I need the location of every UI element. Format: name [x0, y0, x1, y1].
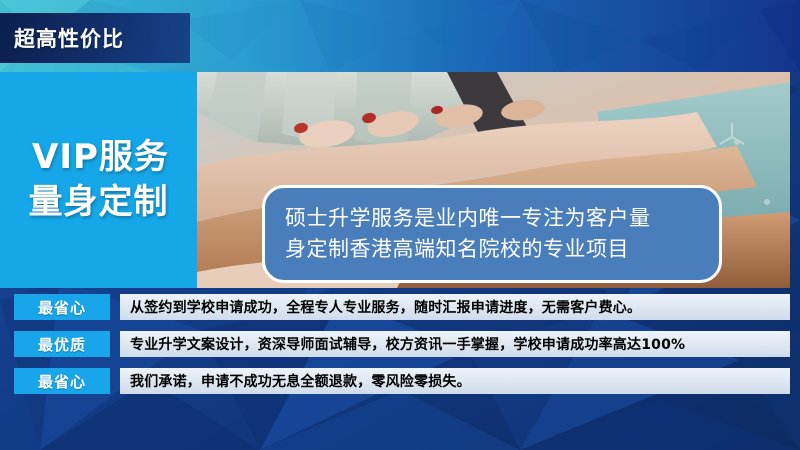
feature-badge: 最省心 — [14, 294, 110, 320]
header-tag-label: 超高性价比 — [0, 23, 124, 53]
feature-text-bar: 我们承诺，申请不成功无息全额退款，零风险零损失。 — [120, 368, 790, 394]
feature-badge: 最省心 — [14, 368, 110, 394]
slide-canvas: 超高性价比 — [0, 0, 800, 450]
service-description-callout: 硕士升学服务是业内唯一专注为客户量 身定制香港高端知名院校的专业项目 — [262, 185, 722, 283]
feature-row: 最优质 专业升学文案设计，资深导师面试辅导，校方资讯一手掌握，学校申请成功率高达… — [0, 331, 800, 357]
feature-row: 最省心 我们承诺，申请不成功无息全额退款，零风险零损失。 — [0, 368, 800, 394]
feature-badge-label: 最省心 — [38, 371, 86, 392]
feature-text: 我们承诺，申请不成功无息全额退款，零风险零损失。 — [120, 371, 471, 391]
vip-headline-line1: VIP服务 — [28, 135, 169, 180]
feature-badge-label: 最优质 — [38, 334, 86, 355]
callout-line2: 身定制香港高端知名院校的专业项目 — [285, 234, 699, 265]
feature-row: 最省心 从签约到学校申请成功，全程专人专业服务，随时汇报申请进度，无需客户费心。 — [0, 294, 800, 320]
feature-text-bar: 从签约到学校申请成功，全程专人专业服务，随时汇报申请进度，无需客户费心。 — [120, 294, 790, 320]
header-tag-strip: 超高性价比 — [0, 13, 190, 63]
feature-badge-label: 最省心 — [38, 297, 86, 318]
callout-line1: 硕士升学服务是业内唯一专注为客户量 — [285, 203, 699, 234]
feature-list: 最省心 从签约到学校申请成功，全程专人专业服务，随时汇报申请进度，无需客户费心。… — [0, 294, 800, 405]
vip-headline-line2: 量身定制 — [29, 180, 169, 225]
feature-text: 从签约到学校申请成功，全程专人专业服务，随时汇报申请进度，无需客户费心。 — [120, 297, 641, 317]
feature-text-bar: 专业升学文案设计，资深导师面试辅导，校方资讯一手掌握，学校申请成功率高达100% — [120, 331, 790, 357]
feature-text: 专业升学文案设计，资深导师面试辅导，校方资讯一手掌握，学校申请成功率高达100% — [120, 334, 685, 354]
feature-badge: 最优质 — [14, 331, 110, 357]
vip-headline-panel: VIP服务 量身定制 — [0, 72, 197, 288]
